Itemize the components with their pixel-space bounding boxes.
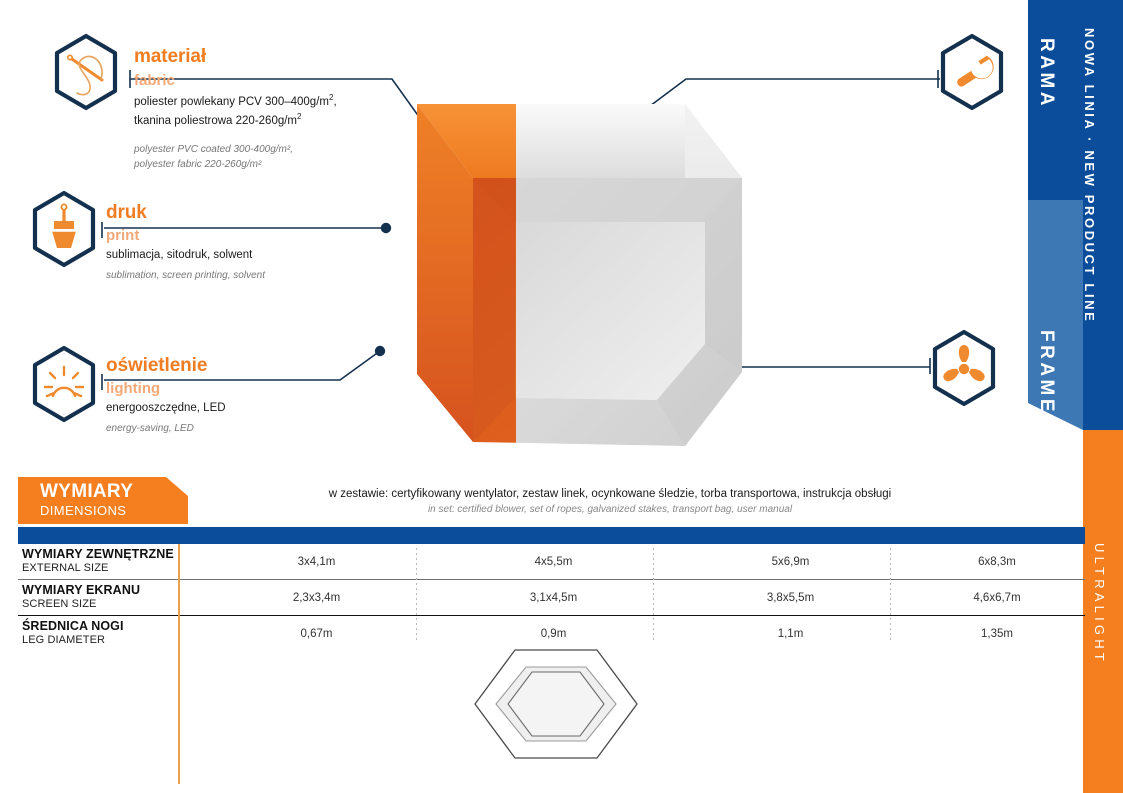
cell-value: 5x6,9m <box>672 544 909 580</box>
page-root: materiał fabric poliester powlekany PCV … <box>0 0 1123 793</box>
banner-label-ultralight: ULTRALIGHT <box>1092 543 1107 665</box>
cell-value: 3x4,1m <box>198 544 435 580</box>
set-note-pl: w zestawie: certyfikowany wentylator, ze… <box>195 487 1025 503</box>
accessories-rule-corner <box>934 70 940 88</box>
feature-fabric-desc-en-1: polyester PVC coated 300-400g/m², <box>134 143 337 158</box>
banner-label-frame: FRAME <box>1035 330 1057 415</box>
table-divider-dotted <box>890 548 891 640</box>
hexagon-footprint-diagram <box>470 645 642 763</box>
wrench-icon <box>938 33 1006 111</box>
cell-value: 1,1m <box>672 616 909 652</box>
feature-lighting-title: oświetlenie <box>106 356 226 376</box>
cell-value: 4x5,5m <box>435 544 672 580</box>
cell-value: 3,8x5,5m <box>672 580 909 616</box>
table-divider-dotted <box>653 548 654 640</box>
feature-fabric-subtitle: fabric <box>134 72 337 89</box>
feature-lighting-subtitle: lighting <box>106 380 226 397</box>
product-illustration-hexagon-frame <box>305 82 795 472</box>
feature-print-desc-pl: sublimacja, sitodruk, solwent <box>106 247 265 264</box>
feature-fabric-desc-en-2: polyester fabric 220-260g/m² <box>134 158 337 173</box>
row-label-leg-diameter: ŚREDNICA NOGI LEG DIAMETER <box>22 619 124 647</box>
set-contents-note: w zestawie: certyfikowany wentylator, ze… <box>195 487 1025 516</box>
table-divider-orange <box>178 544 180 784</box>
cell-value: 0,67m <box>198 616 435 652</box>
dimensions-banner-title: WYMIARY <box>40 481 133 503</box>
feature-print-desc-en: sublimation, screen printing, solvent <box>106 269 265 284</box>
fan-icon <box>930 329 998 407</box>
feature-print-title: druk <box>106 203 265 223</box>
row-label-external-size: WYMIARY ZEWNĘTRZNE EXTERNAL SIZE <box>22 547 174 575</box>
blower-rule-corner <box>926 358 932 374</box>
feature-fabric-title: materiał <box>134 47 337 67</box>
needle-thread-icon <box>52 33 120 111</box>
sun-rays-icon <box>30 345 98 423</box>
right-vertical-banner <box>1010 0 1123 793</box>
table-divider-dotted <box>416 548 417 640</box>
banner-label-product-line: NOWA LINIA · NEW PRODUCT LINE <box>1082 28 1097 323</box>
cell-value: 4,6x6,7m <box>909 580 1085 616</box>
cell-value: 2,3x3,4m <box>198 580 435 616</box>
table-header-bar <box>18 527 1085 544</box>
set-note-en: in set: certified blower, set of ropes, … <box>195 503 1025 517</box>
dimensions-banner-subtitle: DIMENSIONS <box>40 503 126 518</box>
row-label-screen-size: WYMIARY EKRANU SCREEN SIZE <box>22 583 140 611</box>
banner-label-rama: RAMA <box>1035 38 1057 109</box>
feature-lighting-desc-en: energy-saving, LED <box>106 422 226 437</box>
dimensions-banner: WYMIARY DIMENSIONS <box>18 477 188 524</box>
cell-value: 6x8,3m <box>909 544 1085 580</box>
feature-fabric-desc-pl: poliester powlekany PCV 300–400g/m2, tka… <box>134 92 337 129</box>
paint-brush-icon <box>30 190 98 268</box>
feature-print-subtitle: print <box>106 227 265 244</box>
cell-value: 3,1x4,5m <box>435 580 672 616</box>
feature-lighting-desc-pl: energooszczędne, LED <box>106 400 226 417</box>
cell-value: 1,35m <box>909 616 1085 652</box>
